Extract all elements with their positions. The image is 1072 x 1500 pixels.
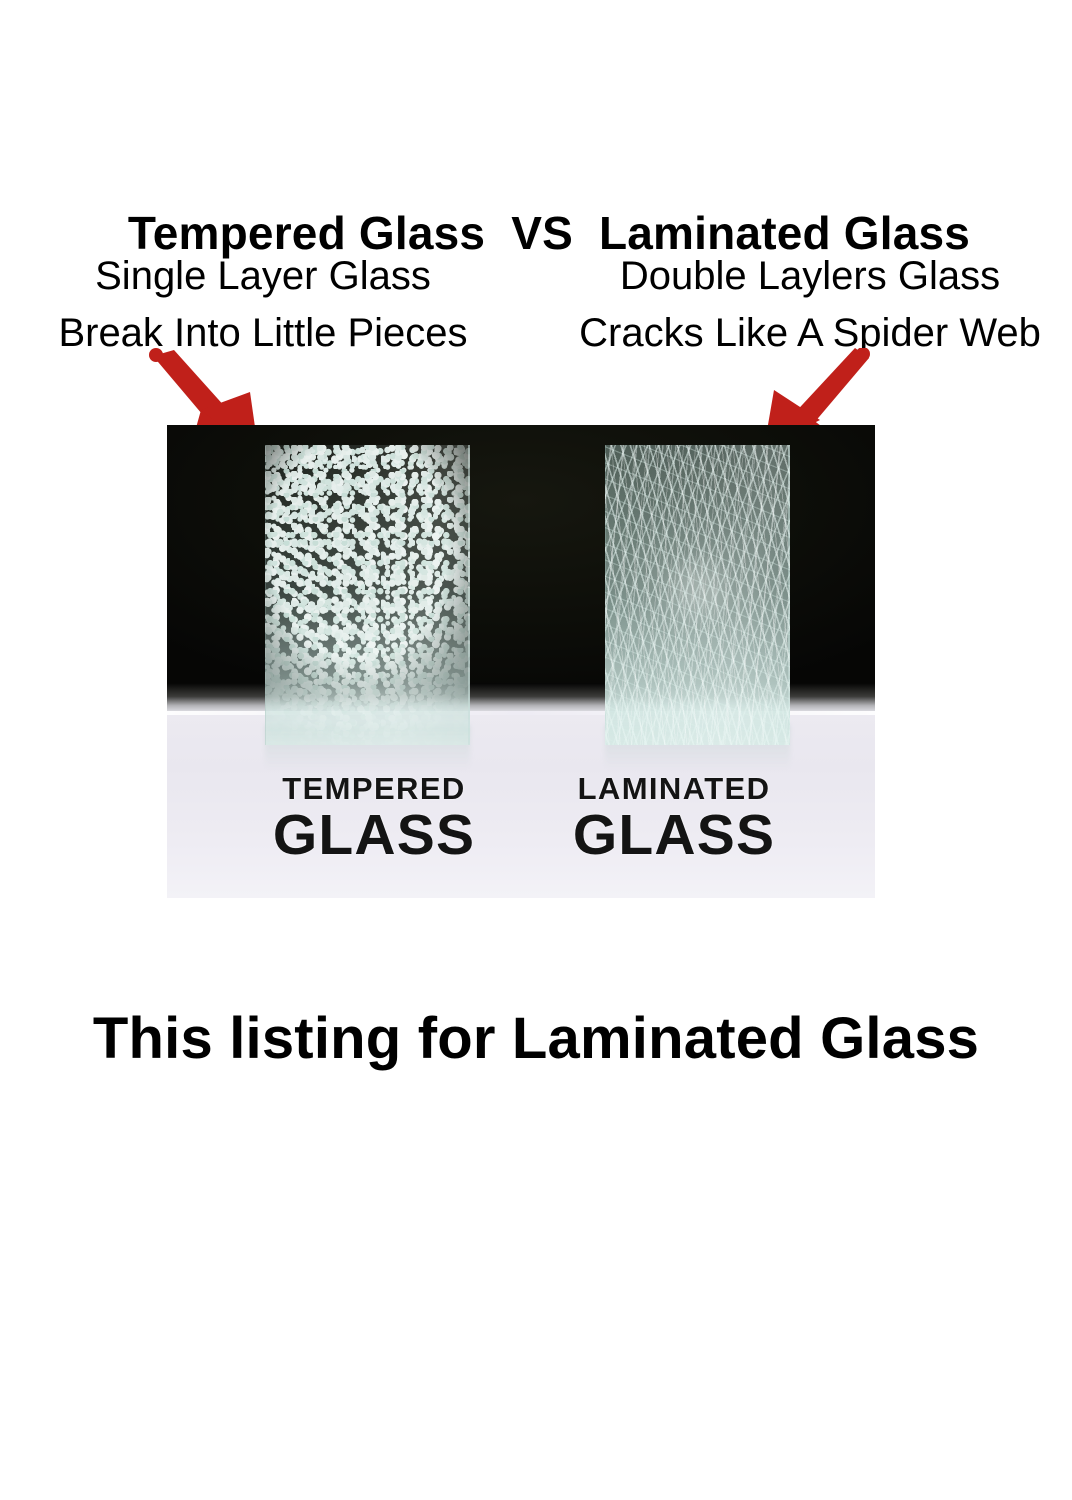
caption-tempered-line2: Break Into Little Pieces [10,305,516,362]
photo-label-laminated-top: LAMINATED [539,772,809,805]
laminated-glass-panel [605,445,790,745]
tempered-glass-panel [265,445,470,745]
photo-label-tempered: TEMPERED GLASS [229,772,519,864]
caption-laminated-line1: Double Laylers Glass [548,248,1072,305]
tempered-shatter-texture [265,445,470,745]
photo-label-laminated-bottom: GLASS [539,807,809,864]
photo-label-tempered-top: TEMPERED [229,772,519,805]
caption-tempered-line1: Single Layer Glass [10,248,516,305]
comparison-photo: TEMPERED GLASS LAMINATED GLASS [167,425,875,898]
page-title: Tempered GlassVSLaminated Glass [0,152,1072,260]
laminated-spiderweb-texture [605,445,790,745]
photo-label-laminated: LAMINATED GLASS [539,772,809,864]
caption-laminated: Double Laylers Glass Cracks Like A Spide… [548,248,1072,362]
photo-label-tempered-bottom: GLASS [229,807,519,864]
caption-tempered: Single Layer Glass Break Into Little Pie… [10,248,516,362]
listing-note: This listing for Laminated Glass [0,1004,1072,1074]
caption-laminated-line2: Cracks Like A Spider Web [548,305,1072,362]
